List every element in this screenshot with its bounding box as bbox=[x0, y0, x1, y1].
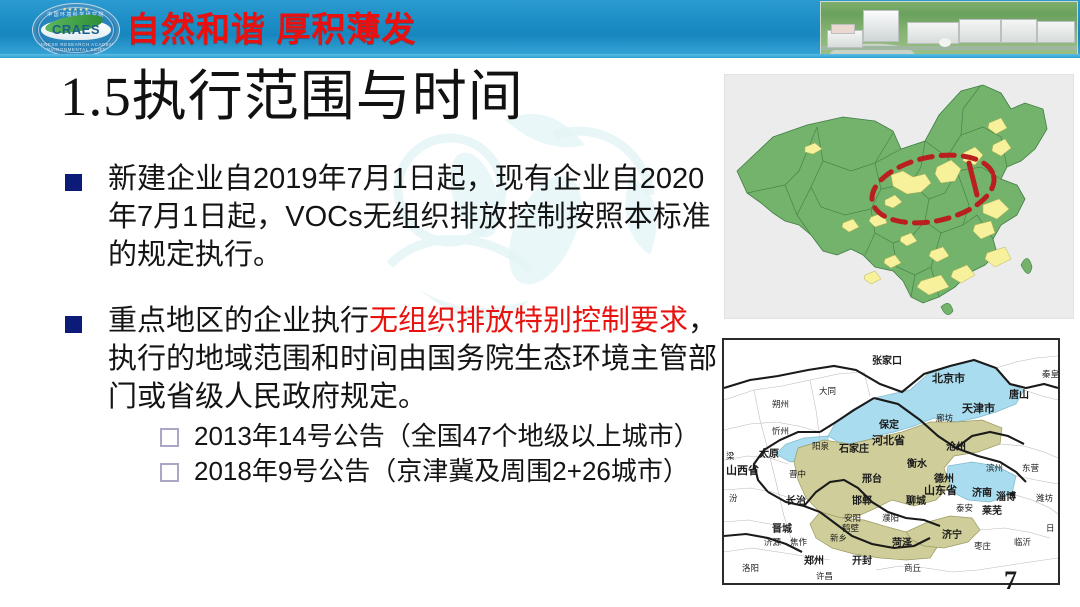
map-label: 枣庄 bbox=[974, 540, 991, 552]
map-label: 济宁 bbox=[942, 526, 962, 541]
jingjinji-region-map: 张家口北京市天津市唐山秦皇大同朔州忻州太原山西省保定廊坊河北省石家庄阳泉沧州衡水… bbox=[722, 338, 1060, 585]
craes-logo: ★★★★★ 中国环境科学研究院 CRAES CHINESE RESEARCH A… bbox=[26, 2, 124, 56]
page-title: 1.5执行范围与时间 bbox=[60, 66, 524, 128]
map-label: 菏泽 bbox=[892, 534, 912, 549]
map-label: 长治 bbox=[786, 492, 806, 507]
map-label: 天津市 bbox=[962, 400, 995, 416]
map-label: 潍坊 bbox=[1036, 492, 1053, 504]
bullet-text-2: 重点地区的企业执行无组织排放特别控制要求，执行的地域范围和时间由国务院生态环境主… bbox=[108, 302, 722, 416]
map-label: 济源 bbox=[764, 536, 781, 548]
map-label: 张家口 bbox=[872, 352, 902, 367]
campus-photo bbox=[820, 1, 1078, 58]
map-label: 山西省 bbox=[726, 462, 759, 478]
map-label: 廊坊 bbox=[936, 412, 953, 424]
logo-seal-icon: ★★★★★ 中国环境科学研究院 CRAES CHINESE RESEARCH A… bbox=[32, 3, 120, 57]
header-slogan: 自然和谐 厚积薄发 bbox=[126, 8, 416, 52]
bullet-item-2: 重点地区的企业执行无组织排放特别控制要求，执行的地域范围和时间由国务院生态环境主… bbox=[62, 302, 722, 488]
map-label: 东营 bbox=[1022, 462, 1039, 474]
map-label: 济南 bbox=[972, 484, 992, 499]
map-label: 秦皇 bbox=[1042, 368, 1059, 380]
bullet-item-1: 新建企业自2019年7月1日起，现有企业自2020年7月1日起，VOCs无组织排… bbox=[62, 160, 722, 274]
map-label: 北京市 bbox=[932, 370, 965, 386]
map-label: 唐山 bbox=[1009, 386, 1029, 401]
bullet-1-text: 新建企业自2019年7月1日起，现有企业自2020年7月1日起，VOCs无组织排… bbox=[108, 163, 711, 271]
map-label: 大同 bbox=[819, 385, 836, 397]
slide-header-band: ★★★★★ 中国环境科学研究院 CRAES CHINESE RESEARCH A… bbox=[0, 0, 1080, 58]
map-label: 聊城 bbox=[906, 492, 926, 507]
hollow-square-bullet-icon bbox=[160, 428, 179, 447]
bullet-2-text-before: 重点地区的企业执行 bbox=[108, 305, 369, 337]
sub-bullet-text-2: 2018年9号公告（京津冀及周围2+26城市） bbox=[194, 455, 722, 488]
bullet-text-1: 新建企业自2019年7月1日起，现有企业自2020年7月1日起，VOCs无组织排… bbox=[108, 160, 722, 274]
map-label: 莱芜 bbox=[982, 502, 1002, 517]
map-label: 商丘 bbox=[904, 562, 921, 574]
map-label: 朔州 bbox=[772, 398, 789, 410]
map-label: 梁 bbox=[726, 450, 735, 462]
page-number: 7 bbox=[1004, 566, 1017, 596]
bullet-list: 新建企业自2019年7月1日起，现有企业自2020年7月1日起，VOCs无组织排… bbox=[62, 160, 722, 498]
map-label: 河北省 bbox=[872, 432, 905, 448]
map-label: 阳泉 bbox=[812, 440, 829, 452]
square-bullet-icon bbox=[65, 316, 82, 333]
sub-bullet-item-1: 2013年14号公告（全国47个地级以上城市） bbox=[160, 420, 722, 453]
map-label: 保定 bbox=[879, 416, 899, 431]
map-label: 滨州 bbox=[986, 462, 1003, 474]
map-label: 邯郸 bbox=[852, 492, 872, 507]
map-label: 濮阳 bbox=[882, 512, 899, 524]
map-label: 临沂 bbox=[1014, 536, 1031, 548]
map-label: 山东省 bbox=[924, 482, 957, 498]
square-bullet-icon bbox=[65, 174, 82, 191]
slide-canvas: ★★★★★ 中国环境科学研究院 CRAES CHINESE RESEARCH A… bbox=[0, 0, 1080, 607]
map-label: 焦作 bbox=[790, 536, 807, 548]
map-label: 洛阳 bbox=[742, 562, 759, 574]
map-label: 许昌 bbox=[816, 570, 833, 582]
map-label: 开封 bbox=[852, 552, 872, 567]
map-label: 淄博 bbox=[996, 488, 1016, 503]
china-map-svg bbox=[725, 75, 1073, 318]
map-label: 衡水 bbox=[907, 455, 927, 470]
map-label: 沧州 bbox=[946, 438, 966, 453]
hollow-square-bullet-icon bbox=[160, 463, 179, 482]
logo-en-text: CHINESE RESEARCH ACADEMY OF ENVIRONMENTA… bbox=[33, 42, 119, 52]
sub-bullet-list: 2013年14号公告（全国47个地级以上城市） 2018年9号公告（京津冀及周围… bbox=[108, 420, 722, 488]
map-label: 泰安 bbox=[956, 502, 973, 514]
logo-craes-text: CRAES bbox=[33, 22, 119, 37]
map-label: 邢台 bbox=[862, 470, 882, 485]
map-label: 石家庄 bbox=[839, 440, 869, 455]
sub-bullet-item-2: 2018年9号公告（京津冀及周围2+26城市） bbox=[160, 455, 722, 488]
map-label: 太原 bbox=[759, 445, 779, 460]
map-label: 晋中 bbox=[789, 468, 806, 480]
bullet-2-highlight: 无组织排放特别控制要求 bbox=[369, 305, 688, 337]
china-national-map bbox=[724, 74, 1074, 319]
map-label: 新乡 bbox=[830, 532, 847, 544]
map-label: 晋城 bbox=[772, 520, 792, 535]
sub-bullet-text-1: 2013年14号公告（全国47个地级以上城市） bbox=[194, 420, 722, 453]
map-label: 汾 bbox=[729, 492, 738, 504]
region-map-labels: 张家口北京市天津市唐山秦皇大同朔州忻州太原山西省保定廊坊河北省石家庄阳泉沧州衡水… bbox=[724, 340, 1058, 583]
map-label: 日 bbox=[1046, 522, 1055, 534]
map-label: 郑州 bbox=[804, 552, 824, 567]
map-label: 忻州 bbox=[772, 425, 789, 437]
